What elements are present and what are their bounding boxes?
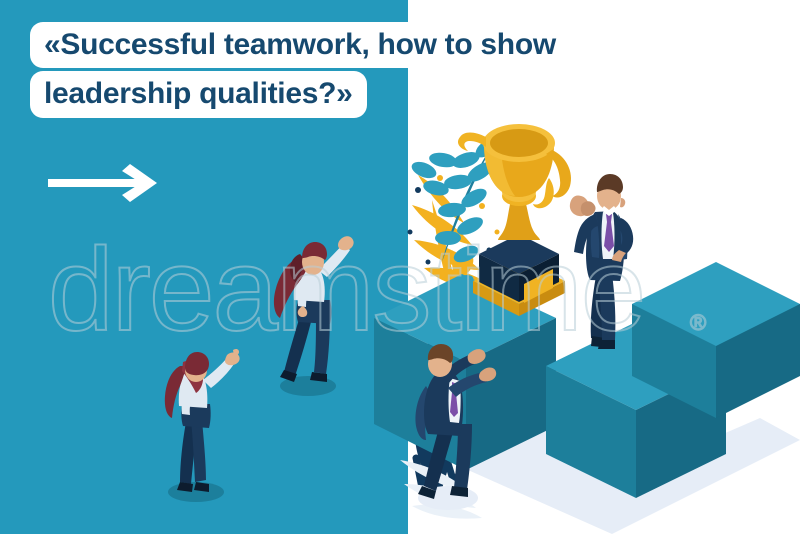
character-businesswoman-front (274, 236, 354, 396)
right-arrow-indicator (48, 160, 168, 206)
isometric-illustration (0, 0, 800, 534)
character-businesswoman-back (165, 349, 240, 502)
right-arrow-icon (48, 160, 168, 206)
illustration-canvas: dreamstime ® «Successful teamwork, how t… (0, 0, 800, 534)
character-winner-businessman (570, 174, 633, 349)
